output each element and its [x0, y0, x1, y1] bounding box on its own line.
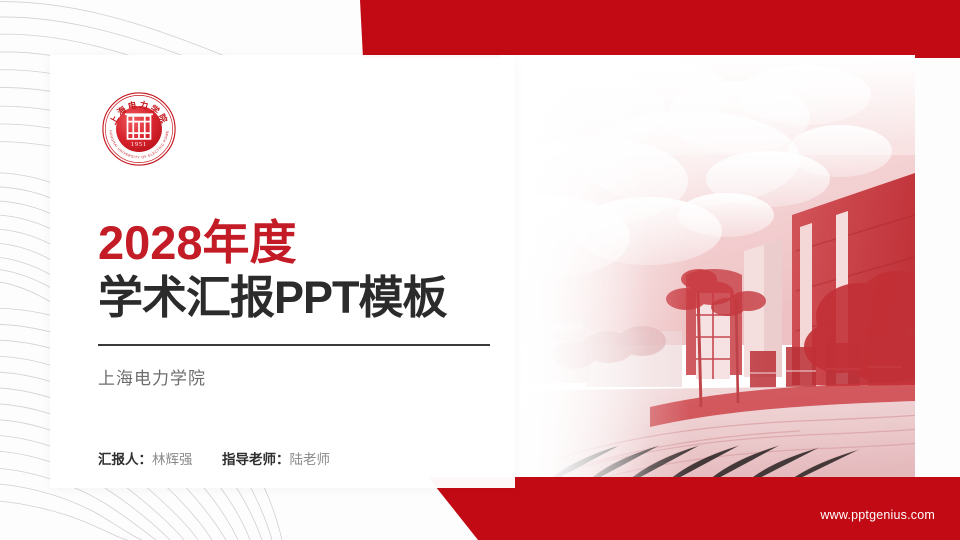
- title-divider-rule: [98, 344, 490, 346]
- presenter-info: 汇报人：林辉强 指导老师：陆老师: [98, 450, 330, 470]
- campus-photo-panel: [500, 55, 915, 488]
- presenter-label: 汇报人：: [98, 452, 152, 467]
- svg-text:1951: 1951: [131, 142, 147, 148]
- university-logo-icon: 1951 上海电力学院 SHANGHAI UNIVERSITY OF ELECT…: [98, 88, 180, 170]
- presentation-slide: 1951 上海电力学院 SHANGHAI UNIVERSITY OF ELECT…: [0, 0, 960, 540]
- main-title: 学术汇报PPT模板: [98, 271, 498, 326]
- year-title: 2028年度: [98, 218, 498, 267]
- title-card: 1951 上海电力学院 SHANGHAI UNIVERSITY OF ELECT…: [50, 55, 515, 488]
- advisor-name: 陆老师: [290, 452, 331, 467]
- site-watermark: www.pptgenius.com: [820, 508, 935, 522]
- advisor-label: 指导老师：: [222, 452, 290, 467]
- title-block: 2028年度 学术汇报PPT模板 上海电力学院: [98, 218, 498, 389]
- organization-name: 上海电力学院: [98, 364, 498, 389]
- campus-building-photo: [500, 55, 915, 488]
- presenter-name: 林辉强: [152, 452, 193, 467]
